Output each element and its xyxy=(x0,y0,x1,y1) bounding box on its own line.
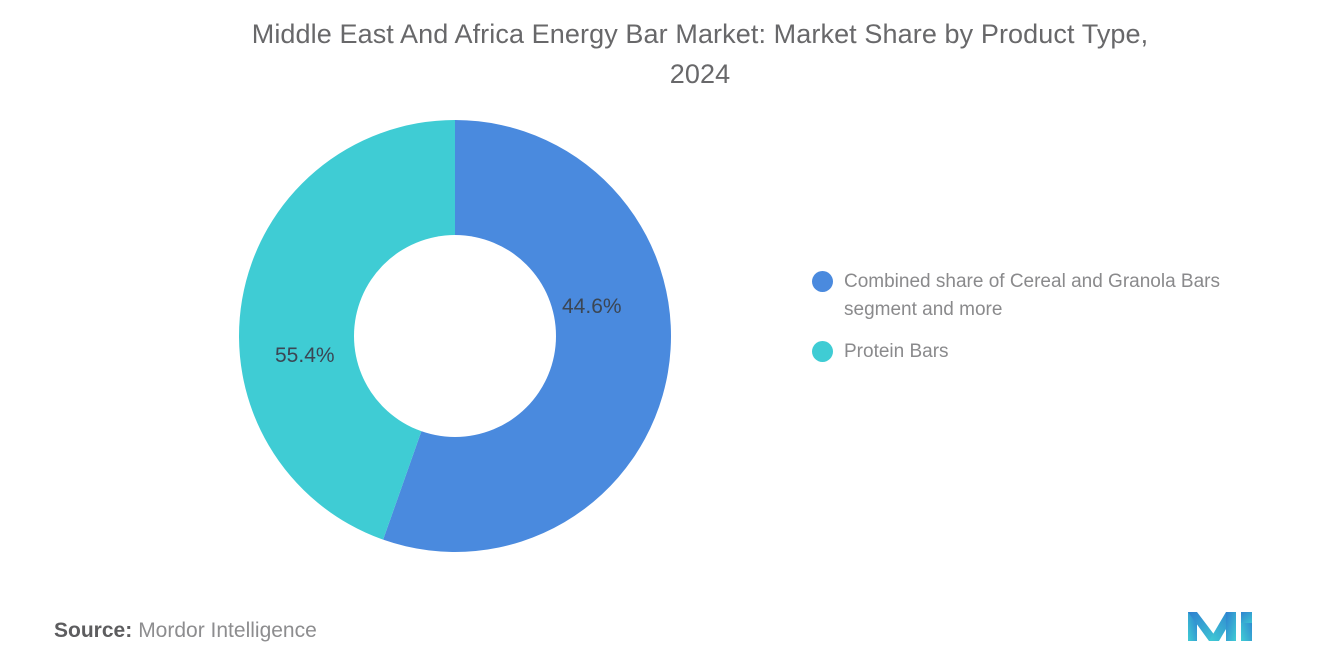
chart-title-line-2: 2024 xyxy=(670,59,730,89)
donut-chart xyxy=(237,118,673,554)
logo-shape-4 xyxy=(1226,612,1236,641)
mordor-intelligence-logo-icon xyxy=(1186,603,1254,643)
legend-swatch-icon-combined-share xyxy=(812,271,833,292)
donut-hole xyxy=(354,235,556,437)
legend-item-protein-bars[interactable]: Protein Bars xyxy=(812,338,1292,366)
logo-shape-6 xyxy=(1241,612,1252,623)
legend-label-protein-bars: Protein Bars xyxy=(844,338,949,366)
donut-svg xyxy=(237,118,673,554)
legend-item-combined-share[interactable]: Combined share of Cereal and Granola Bar… xyxy=(812,268,1292,324)
data-label-protein-bars: 44.6% xyxy=(562,295,622,319)
source-label: Source: xyxy=(54,619,132,642)
chart-legend: Combined share of Cereal and Granola Bar… xyxy=(812,268,1292,380)
legend-swatch-icon-protein-bars xyxy=(812,341,833,362)
data-label-combined-share: 55.4% xyxy=(275,344,335,368)
logo-svg xyxy=(1186,603,1254,643)
source-value: Mordor Intelligence xyxy=(138,619,317,642)
source-line: Source:Mordor Intelligence xyxy=(54,619,317,643)
chart-title-line-1: Middle East And Africa Energy Bar Market… xyxy=(252,19,1149,49)
chart-container: Middle East And Africa Energy Bar Market… xyxy=(0,0,1320,665)
chart-title: Middle East And Africa Energy Bar Market… xyxy=(160,14,1240,94)
legend-label-combined-share: Combined share of Cereal and Granola Bar… xyxy=(844,268,1289,324)
